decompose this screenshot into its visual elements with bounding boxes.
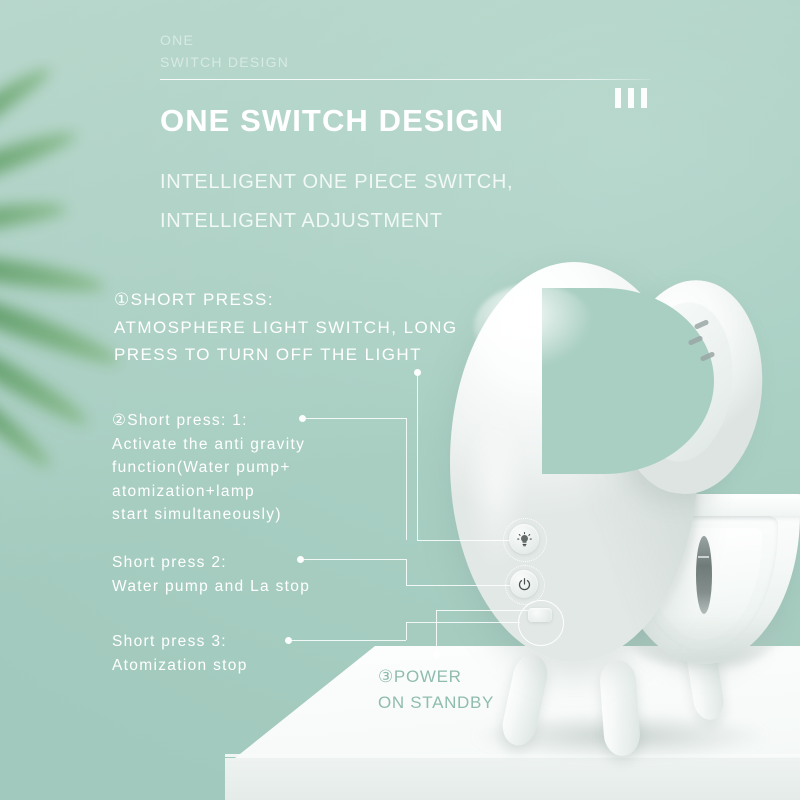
leader-line [304, 559, 406, 560]
pedestal-front [225, 758, 800, 800]
power-button[interactable] [510, 570, 538, 598]
body-gloss-highlight [474, 284, 594, 370]
marketing-infographic: ONE SWITCH DESIGN ONE SWITCH DESIGN INTE… [0, 0, 800, 800]
light-bulb-icon [516, 531, 533, 548]
leader-line [406, 622, 407, 640]
callout-4: Short press 3: Atomization stop [112, 630, 248, 677]
leader-line [406, 418, 407, 540]
mist-button-ring [518, 600, 564, 646]
leaf-icon [0, 246, 107, 297]
page-title: ONE SWITCH DESIGN [160, 103, 504, 139]
product-leg [599, 659, 642, 757]
callout-3: Short press 2: Water pump and La stop [112, 551, 310, 598]
leader-line [406, 559, 407, 585]
leader-line [436, 610, 528, 611]
water-level-gauge [696, 536, 712, 614]
leaf-icon [0, 277, 124, 372]
leader-line [406, 585, 510, 586]
header-kicker: ONE SWITCH DESIGN [160, 30, 289, 73]
leaf-icon [0, 196, 69, 241]
page-subtitle: INTELLIGENT ONE PIECE SWITCH, INTELLIGEN… [160, 163, 513, 241]
callout-1: ①SHORT PRESS: ATMOSPHERE LIGHT SWITCH, L… [114, 286, 458, 369]
callout-2: ②Short press: 1: Activate the anti gravi… [112, 409, 305, 527]
power-icon [517, 577, 532, 592]
mist-button[interactable] [528, 608, 552, 622]
leaf-icon [0, 123, 80, 204]
leader-line [292, 640, 406, 641]
leader-line [436, 610, 437, 654]
light-button[interactable] [509, 524, 539, 554]
leader-dot [285, 637, 292, 644]
callout-5: ③POWER ON STANDBY [378, 664, 494, 715]
leader-line [417, 376, 418, 540]
mist-wave-icon [532, 611, 549, 620]
leader-line [306, 418, 406, 419]
header-divider [160, 79, 650, 80]
leader-dot [414, 369, 421, 376]
leader-line [417, 540, 509, 541]
three-vertical-bars-icon [615, 88, 647, 108]
product-body [450, 262, 698, 662]
water-level-mark [698, 556, 709, 558]
leader-line [406, 622, 520, 623]
